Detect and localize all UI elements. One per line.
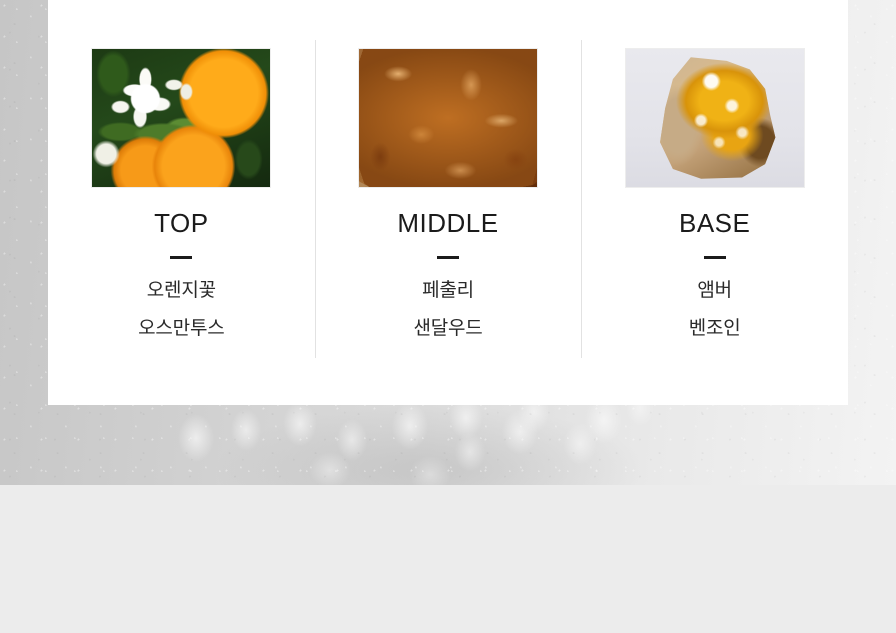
amber-rock-shape [652, 57, 780, 178]
fragrance-notes-card: TOP 오렌지꽃 오스만투스 MIDDLE 페출리 샌달우드 [48, 0, 848, 405]
note-column-top: TOP 오렌지꽃 오스만투스 [48, 0, 315, 405]
note-item: 샌달우드 [413, 319, 482, 338]
note-thumbnail-base [625, 48, 805, 188]
note-item: 페출리 [413, 281, 482, 300]
note-column-base: BASE 앰버 벤조인 [581, 0, 848, 405]
note-title-base: BASE [679, 210, 750, 236]
note-thumbnail-top [91, 48, 271, 188]
note-title-middle: MIDDLE [397, 210, 498, 236]
note-list-middle: 페출리 샌달우드 [413, 281, 482, 357]
note-column-middle: MIDDLE 페출리 샌달우드 [315, 0, 582, 405]
note-thumbnail-middle [358, 48, 538, 188]
note-divider-dash-base [704, 256, 726, 259]
wood-chips-photo [359, 49, 537, 187]
note-divider-dash-top [170, 256, 192, 259]
note-item: 오렌지꽃 [138, 281, 224, 300]
ingredients-panel: 전성분 에탄올,향료,정제수,부틸메톡시디벤조일메탄,에칠헥실메톡시신나메이트,… [0, 485, 896, 633]
note-item: 오스만투스 [138, 319, 224, 338]
note-title-top: TOP [154, 210, 208, 236]
note-item: 앰버 [689, 281, 741, 300]
note-divider-dash-middle [437, 256, 459, 259]
fragrance-notes-page: TOP 오렌지꽃 오스만투스 MIDDLE 페출리 샌달우드 [0, 0, 896, 633]
note-list-base: 앰버 벤조인 [689, 281, 741, 357]
amber-stone-photo [626, 49, 804, 187]
notes-columns: TOP 오렌지꽃 오스만투스 MIDDLE 페출리 샌달우드 [48, 0, 848, 405]
orange-blossom-photo [92, 49, 270, 187]
note-list-top: 오렌지꽃 오스만투스 [138, 281, 224, 357]
note-item: 벤조인 [689, 319, 741, 338]
